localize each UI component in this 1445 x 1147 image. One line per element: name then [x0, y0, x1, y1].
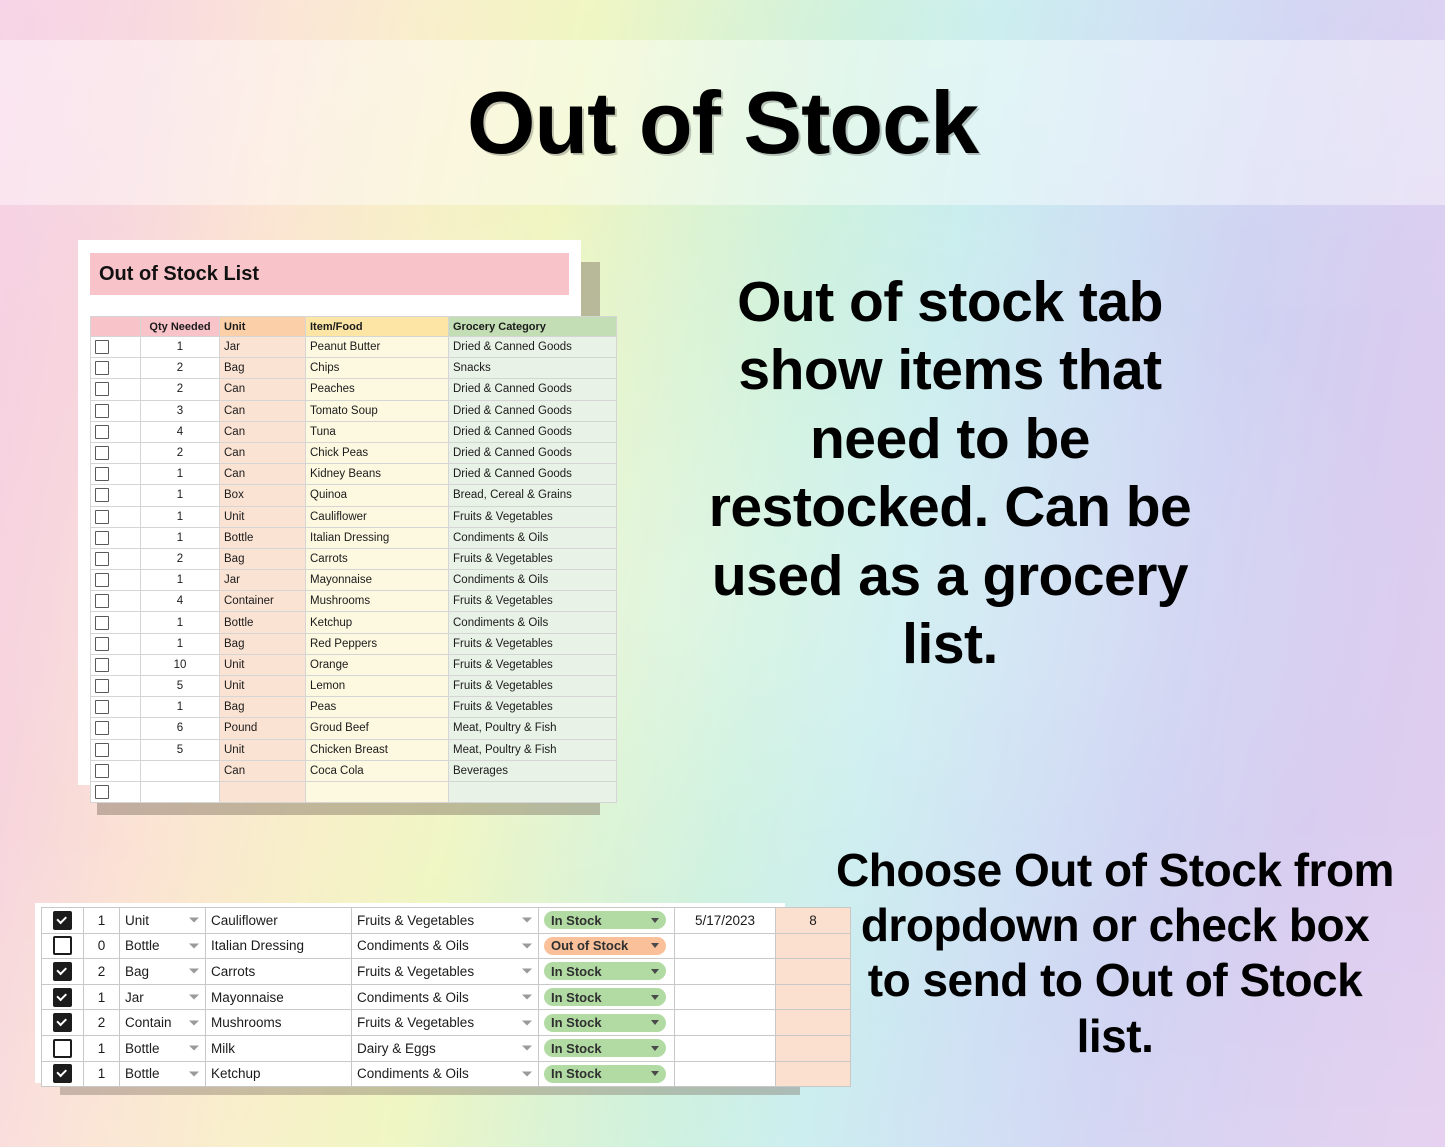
row-unit: Bag: [220, 358, 306, 379]
checkbox-icon[interactable]: [95, 425, 109, 439]
row-category: Beverages: [449, 760, 617, 781]
inventory-category-cell[interactable]: Condiments & Oils: [352, 984, 539, 1010]
checkbox-icon[interactable]: [53, 1064, 72, 1083]
inventory-item: Mushrooms: [206, 1010, 352, 1036]
checkbox-icon[interactable]: [95, 446, 109, 460]
row-qty: 5: [141, 739, 220, 760]
row-category: Meat, Poultry & Fish: [449, 718, 617, 739]
row-item: Cauliflower: [306, 506, 449, 527]
row-item: Red Peppers: [306, 633, 449, 654]
table-row: 1BagPeasFruits & Vegetables: [91, 697, 617, 718]
row-unit: Bottle: [220, 612, 306, 633]
row-category: Fruits & Vegetables: [449, 633, 617, 654]
table-row: 4CanTunaDried & Canned Goods: [91, 421, 617, 442]
inventory-unit: Jar: [125, 990, 144, 1005]
inventory-checkbox-cell[interactable]: [42, 959, 84, 985]
checkbox-icon[interactable]: [53, 962, 72, 981]
row-item: Peaches: [306, 379, 449, 400]
inventory-unit-cell[interactable]: Unit: [120, 908, 206, 934]
inventory-category-cell[interactable]: Condiments & Oils: [352, 1061, 539, 1087]
row-unit: Can: [220, 421, 306, 442]
chevron-down-icon[interactable]: [651, 1046, 659, 1051]
inventory-unit: Bottle: [125, 1066, 160, 1081]
checkbox-icon[interactable]: [95, 531, 109, 545]
row-category: Fruits & Vegetables: [449, 548, 617, 569]
page-title-text: Out of Stock: [467, 72, 978, 174]
status-badge[interactable]: In Stock: [544, 1014, 666, 1032]
inventory-unit: Bag: [125, 964, 149, 979]
inventory-unit: Bottle: [125, 1041, 160, 1056]
inventory-item: Mayonnaise: [206, 984, 352, 1010]
checkbox-icon[interactable]: [95, 658, 109, 672]
row-category: Condiments & Oils: [449, 612, 617, 633]
inventory-row: 1BottleMilkDairy & EggsIn Stock: [42, 1035, 851, 1061]
row-unit: Jar: [220, 337, 306, 358]
row-unit: Bag: [220, 697, 306, 718]
checkbox-icon[interactable]: [95, 594, 109, 608]
row-qty: 10: [141, 654, 220, 675]
status-badge[interactable]: In Stock: [544, 1065, 666, 1083]
row-checkbox-cell[interactable]: [91, 485, 141, 506]
chevron-down-icon[interactable]: [522, 995, 532, 1000]
row-category: Dried & Canned Goods: [449, 442, 617, 463]
inventory-item: Italian Dressing: [206, 933, 352, 959]
row-qty: 4: [141, 591, 220, 612]
row-checkbox-cell[interactable]: [91, 781, 141, 802]
row-item: [306, 781, 449, 802]
chevron-down-icon[interactable]: [522, 918, 532, 923]
checkbox-icon[interactable]: [95, 764, 109, 778]
row-item: Tomato Soup: [306, 400, 449, 421]
row-category: Fruits & Vegetables: [449, 591, 617, 612]
row-unit: Jar: [220, 570, 306, 591]
inventory-status-cell[interactable]: Out of Stock: [539, 933, 675, 959]
row-category: Dried & Canned Goods: [449, 400, 617, 421]
chevron-down-icon[interactable]: [189, 1020, 199, 1025]
checkbox-icon[interactable]: [95, 467, 109, 481]
inventory-unit-cell[interactable]: Bottle: [120, 1061, 206, 1087]
inventory-category: Condiments & Oils: [357, 990, 469, 1005]
chevron-down-icon[interactable]: [651, 943, 659, 948]
row-item: Ketchup: [306, 612, 449, 633]
out-of-stock-list-title: Out of Stock List: [90, 253, 569, 295]
status-label: In Stock: [551, 1041, 602, 1056]
row-unit: Bottle: [220, 527, 306, 548]
row-category: Condiments & Oils: [449, 570, 617, 591]
row-unit: [220, 781, 306, 802]
row-unit: Unit: [220, 654, 306, 675]
row-checkbox-cell[interactable]: [91, 591, 141, 612]
row-item: Chicken Breast: [306, 739, 449, 760]
copy-bottom: Choose Out of Stock from dropdown or che…: [835, 843, 1395, 1064]
status-label: In Stock: [551, 1015, 602, 1030]
row-category: Dried & Canned Goods: [449, 337, 617, 358]
inventory-item: Carrots: [206, 959, 352, 985]
inventory-checkbox-cell[interactable]: [42, 1061, 84, 1087]
inventory-category: Condiments & Oils: [357, 1066, 469, 1081]
inventory-qty: 1: [84, 1061, 120, 1087]
row-checkbox-cell[interactable]: [91, 760, 141, 781]
row-qty: 1: [141, 506, 220, 527]
out-of-stock-table-head: Qty Needed Unit Item/Food Grocery Catego…: [91, 317, 617, 337]
inventory-category: Dairy & Eggs: [357, 1041, 436, 1056]
header-unit: Unit: [220, 317, 306, 337]
row-checkbox-cell[interactable]: [91, 527, 141, 548]
table-row: 1UnitCauliflowerFruits & Vegetables: [91, 506, 617, 527]
header-checkbox: [91, 317, 141, 337]
inventory-date: [675, 1035, 776, 1061]
row-qty: 1: [141, 570, 220, 591]
table-row: 2BagCarrotsFruits & Vegetables: [91, 548, 617, 569]
out-of-stock-table-body: 1JarPeanut ButterDried & Canned Goods2Ba…: [91, 337, 617, 803]
chevron-down-icon[interactable]: [522, 943, 532, 948]
chevron-down-icon[interactable]: [189, 1046, 199, 1051]
inventory-unit-cell[interactable]: Bottle: [120, 933, 206, 959]
row-qty: 3: [141, 400, 220, 421]
row-qty: 1: [141, 337, 220, 358]
inventory-status-cell[interactable]: In Stock: [539, 1061, 675, 1087]
row-checkbox-cell[interactable]: [91, 654, 141, 675]
checkbox-icon[interactable]: [95, 361, 109, 375]
inventory-checkbox-cell[interactable]: [42, 1035, 84, 1061]
inventory-number: [776, 1061, 851, 1087]
row-category: Dried & Canned Goods: [449, 464, 617, 485]
table-row: 4ContainerMushroomsFruits & Vegetables: [91, 591, 617, 612]
inventory-checkbox-cell[interactable]: [42, 984, 84, 1010]
table-row: 6PoundGroud BeefMeat, Poultry & Fish: [91, 718, 617, 739]
row-unit: Unit: [220, 676, 306, 697]
inventory-row: 1BottleKetchupCondiments & OilsIn Stock: [42, 1061, 851, 1087]
row-category: Fruits & Vegetables: [449, 506, 617, 527]
checkbox-icon[interactable]: [95, 679, 109, 693]
inventory-status-cell[interactable]: In Stock: [539, 984, 675, 1010]
inventory-checkbox-cell[interactable]: [42, 933, 84, 959]
row-checkbox-cell[interactable]: [91, 358, 141, 379]
row-checkbox-cell[interactable]: [91, 421, 141, 442]
checkbox-icon[interactable]: [95, 510, 109, 524]
inventory-unit: Contain: [125, 1015, 172, 1030]
inventory-table: 1UnitCauliflowerFruits & VegetablesIn St…: [41, 907, 851, 1087]
table-row: 5UnitChicken BreastMeat, Poultry & Fish: [91, 739, 617, 760]
row-checkbox-cell[interactable]: [91, 506, 141, 527]
checkbox-icon[interactable]: [95, 382, 109, 396]
inventory-row: 1JarMayonnaiseCondiments & OilsIn Stock: [42, 984, 851, 1010]
row-item: Italian Dressing: [306, 527, 449, 548]
row-category: [449, 781, 617, 802]
table-row: 2BagChipsSnacks: [91, 358, 617, 379]
checkbox-icon[interactable]: [95, 404, 109, 418]
inventory-category-cell[interactable]: Fruits & Vegetables: [352, 959, 539, 985]
row-checkbox-cell[interactable]: [91, 442, 141, 463]
inventory-category-cell[interactable]: Fruits & Vegetables: [352, 1010, 539, 1036]
inventory-item: Milk: [206, 1035, 352, 1061]
inventory-unit-cell[interactable]: Contain: [120, 1010, 206, 1036]
table-row: 10UnitOrangeFruits & Vegetables: [91, 654, 617, 675]
checkbox-icon[interactable]: [95, 721, 109, 735]
row-item: Coca Cola: [306, 760, 449, 781]
table-row: 1BoxQuinoaBread, Cereal & Grains: [91, 485, 617, 506]
row-item: Peas: [306, 697, 449, 718]
inventory-status-cell[interactable]: In Stock: [539, 959, 675, 985]
row-qty: 2: [141, 379, 220, 400]
inventory-category: Fruits & Vegetables: [357, 1015, 474, 1030]
row-item: Carrots: [306, 548, 449, 569]
checkbox-icon[interactable]: [95, 573, 109, 587]
row-item: Mayonnaise: [306, 570, 449, 591]
status-label: In Stock: [551, 990, 602, 1005]
row-qty: 4: [141, 421, 220, 442]
table-row: 1BottleItalian DressingCondiments & Oils: [91, 527, 617, 548]
row-unit: Bag: [220, 548, 306, 569]
row-checkbox-cell[interactable]: [91, 400, 141, 421]
checkbox-icon[interactable]: [95, 785, 109, 799]
inventory-date: [675, 933, 776, 959]
inventory-checkbox-cell[interactable]: [42, 1010, 84, 1036]
checkbox-icon[interactable]: [95, 552, 109, 566]
row-qty: 1: [141, 464, 220, 485]
table-row: 1JarMayonnaiseCondiments & Oils: [91, 570, 617, 591]
checkbox-icon[interactable]: [53, 1039, 72, 1058]
inventory-row: 2ContainMushroomsFruits & VegetablesIn S…: [42, 1010, 851, 1036]
header-category: Grocery Category: [449, 317, 617, 337]
row-qty: 2: [141, 548, 220, 569]
checkbox-icon[interactable]: [53, 936, 72, 955]
checkbox-icon[interactable]: [53, 911, 72, 930]
inventory-category-cell[interactable]: Condiments & Oils: [352, 933, 539, 959]
row-item: Orange: [306, 654, 449, 675]
inventory-unit-cell[interactable]: Bottle: [120, 1035, 206, 1061]
status-badge[interactable]: In Stock: [544, 1039, 666, 1057]
row-item: Mushrooms: [306, 591, 449, 612]
inventory-date: [675, 984, 776, 1010]
row-checkbox-cell[interactable]: [91, 676, 141, 697]
status-label: In Stock: [551, 964, 602, 979]
chevron-down-icon[interactable]: [522, 1046, 532, 1051]
inventory-unit-cell[interactable]: Bag: [120, 959, 206, 985]
header-item: Item/Food: [306, 317, 449, 337]
chevron-down-icon[interactable]: [189, 969, 199, 974]
inventory-row: 2BagCarrotsFruits & VegetablesIn Stock: [42, 959, 851, 985]
inventory-date: 5/17/2023: [675, 908, 776, 934]
chevron-down-icon[interactable]: [651, 995, 659, 1000]
row-category: Fruits & Vegetables: [449, 654, 617, 675]
row-checkbox-cell[interactable]: [91, 697, 141, 718]
inventory-category: Fruits & Vegetables: [357, 913, 474, 928]
row-checkbox-cell[interactable]: [91, 464, 141, 485]
row-category: Fruits & Vegetables: [449, 697, 617, 718]
row-unit: Can: [220, 760, 306, 781]
inventory-status-cell[interactable]: In Stock: [539, 1010, 675, 1036]
row-item: Tuna: [306, 421, 449, 442]
inventory-category: Condiments & Oils: [357, 938, 469, 953]
page-title: Out of Stock: [0, 40, 1445, 205]
table-row: 1BagRed PeppersFruits & Vegetables: [91, 633, 617, 654]
row-item: Chips: [306, 358, 449, 379]
inventory-status-cell[interactable]: In Stock: [539, 1035, 675, 1061]
row-checkbox-cell[interactable]: [91, 718, 141, 739]
row-item: Chick Peas: [306, 442, 449, 463]
row-item: Kidney Beans: [306, 464, 449, 485]
chevron-down-icon[interactable]: [522, 1020, 532, 1025]
chevron-down-icon[interactable]: [651, 1020, 659, 1025]
inventory-category: Fruits & Vegetables: [357, 964, 474, 979]
table-row: 5UnitLemonFruits & Vegetables: [91, 676, 617, 697]
chevron-down-icon[interactable]: [189, 1071, 199, 1076]
row-unit: Can: [220, 379, 306, 400]
row-qty: [141, 760, 220, 781]
checkbox-icon[interactable]: [95, 637, 109, 651]
row-unit: Box: [220, 485, 306, 506]
table-row: 1BottleKetchupCondiments & Oils: [91, 612, 617, 633]
row-item: Lemon: [306, 676, 449, 697]
chevron-down-icon[interactable]: [522, 1071, 532, 1076]
inventory-category-cell[interactable]: Dairy & Eggs: [352, 1035, 539, 1061]
row-category: Fruits & Vegetables: [449, 676, 617, 697]
row-checkbox-cell[interactable]: [91, 633, 141, 654]
row-qty: 5: [141, 676, 220, 697]
row-qty: 1: [141, 485, 220, 506]
chevron-down-icon[interactable]: [189, 943, 199, 948]
row-unit: Can: [220, 442, 306, 463]
checkbox-icon[interactable]: [95, 700, 109, 714]
status-label: In Stock: [551, 913, 602, 928]
row-qty: 2: [141, 358, 220, 379]
row-unit: Unit: [220, 739, 306, 760]
row-category: Bread, Cereal & Grains: [449, 485, 617, 506]
table-row: 2CanPeachesDried & Canned Goods: [91, 379, 617, 400]
inventory-unit-cell[interactable]: Jar: [120, 984, 206, 1010]
table-header-row: Qty Needed Unit Item/Food Grocery Catego…: [91, 317, 617, 337]
inventory-qty: 2: [84, 1010, 120, 1036]
inventory-category-cell[interactable]: Fruits & Vegetables: [352, 908, 539, 934]
table-row: 3CanTomato SoupDried & Canned Goods: [91, 400, 617, 421]
row-item: Groud Beef: [306, 718, 449, 739]
inventory-table-body: 1UnitCauliflowerFruits & VegetablesIn St…: [42, 908, 851, 1087]
chevron-down-icon[interactable]: [189, 918, 199, 923]
copy-top: Out of stock tab show items that need to…: [690, 268, 1210, 678]
row-qty: 1: [141, 527, 220, 548]
table-row: [91, 781, 617, 802]
row-checkbox-cell[interactable]: [91, 739, 141, 760]
chevron-down-icon[interactable]: [651, 969, 659, 974]
out-of-stock-list-title-text: Out of Stock List: [90, 263, 259, 286]
table-row: 2CanChick PeasDried & Canned Goods: [91, 442, 617, 463]
table-row: 1JarPeanut ButterDried & Canned Goods: [91, 337, 617, 358]
inventory-date: [675, 1061, 776, 1087]
inventory-qty: 1: [84, 1035, 120, 1061]
row-qty: 1: [141, 612, 220, 633]
row-qty: 1: [141, 633, 220, 654]
row-qty: [141, 781, 220, 802]
row-category: Snacks: [449, 358, 617, 379]
inventory-unit: Unit: [125, 913, 149, 928]
status-label: In Stock: [551, 1066, 602, 1081]
status-badge[interactable]: In Stock: [544, 962, 666, 980]
out-of-stock-table: Qty Needed Unit Item/Food Grocery Catego…: [90, 316, 617, 803]
checkbox-icon[interactable]: [95, 616, 109, 630]
inventory-item: Ketchup: [206, 1061, 352, 1087]
status-badge[interactable]: Out of Stock: [544, 937, 666, 955]
row-unit: Bag: [220, 633, 306, 654]
checkbox-icon[interactable]: [95, 488, 109, 502]
checkbox-icon[interactable]: [53, 1013, 72, 1032]
row-item: Quinoa: [306, 485, 449, 506]
row-checkbox-cell[interactable]: [91, 379, 141, 400]
inventory-row: 0BottleItalian DressingCondiments & Oils…: [42, 933, 851, 959]
status-label: Out of Stock: [551, 938, 628, 953]
row-qty: 1: [141, 697, 220, 718]
table-row: 1CanKidney BeansDried & Canned Goods: [91, 464, 617, 485]
checkbox-icon[interactable]: [95, 743, 109, 757]
row-unit: Can: [220, 400, 306, 421]
row-category: Meat, Poultry & Fish: [449, 739, 617, 760]
header-qty: Qty Needed: [141, 317, 220, 337]
inventory-checkbox-cell[interactable]: [42, 908, 84, 934]
checkbox-icon[interactable]: [95, 340, 109, 354]
inventory-date: [675, 959, 776, 985]
chevron-down-icon[interactable]: [189, 995, 199, 1000]
row-checkbox-cell[interactable]: [91, 570, 141, 591]
row-qty: 2: [141, 442, 220, 463]
inventory-qty: 1: [84, 908, 120, 934]
inventory-item: Cauliflower: [206, 908, 352, 934]
checkbox-icon[interactable]: [53, 988, 72, 1007]
row-item: Peanut Butter: [306, 337, 449, 358]
inventory-date: [675, 1010, 776, 1036]
chevron-down-icon[interactable]: [522, 969, 532, 974]
row-category: Condiments & Oils: [449, 527, 617, 548]
row-unit: Pound: [220, 718, 306, 739]
inventory-status-cell[interactable]: In Stock: [539, 908, 675, 934]
status-badge[interactable]: In Stock: [544, 988, 666, 1006]
chevron-down-icon[interactable]: [651, 918, 659, 923]
inventory-unit: Bottle: [125, 938, 160, 953]
inventory-qty: 2: [84, 959, 120, 985]
row-unit: Container: [220, 591, 306, 612]
chevron-down-icon[interactable]: [651, 1071, 659, 1076]
inventory-qty: 0: [84, 933, 120, 959]
status-badge[interactable]: In Stock: [544, 911, 666, 929]
row-checkbox-cell[interactable]: [91, 612, 141, 633]
inventory-qty: 1: [84, 984, 120, 1010]
row-checkbox-cell[interactable]: [91, 548, 141, 569]
row-checkbox-cell[interactable]: [91, 337, 141, 358]
row-unit: Can: [220, 464, 306, 485]
row-unit: Unit: [220, 506, 306, 527]
row-qty: 6: [141, 718, 220, 739]
inventory-row: 1UnitCauliflowerFruits & VegetablesIn St…: [42, 908, 851, 934]
table-row: CanCoca ColaBeverages: [91, 760, 617, 781]
row-category: Dried & Canned Goods: [449, 379, 617, 400]
row-category: Dried & Canned Goods: [449, 421, 617, 442]
